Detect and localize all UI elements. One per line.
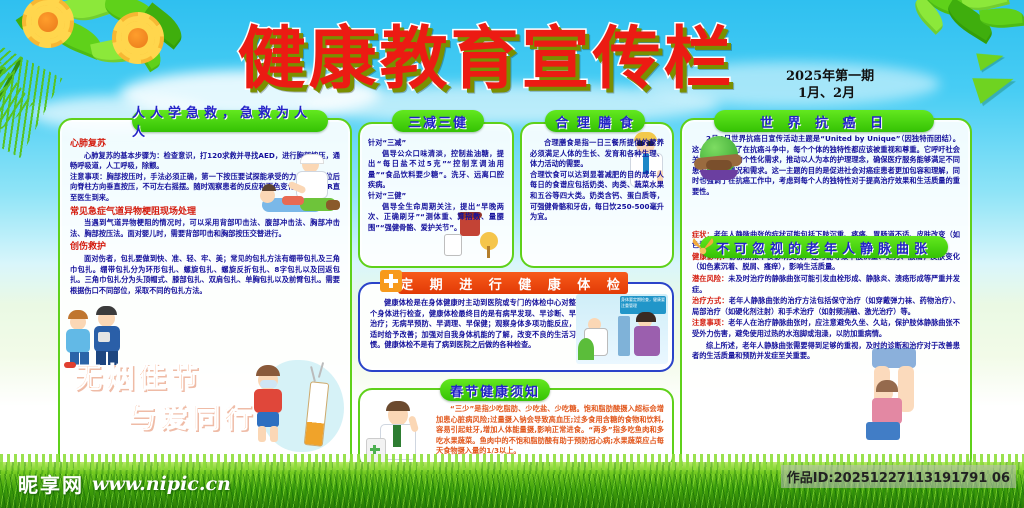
checkup-p0: 健康体检是在身体健康时主动到医院或专门的体检中心对整个身体进行检查，健康体检最终… [370, 298, 576, 351]
spring-p0: “三少”是指少吃脂肪、少吃盐、少吃糖。饱和脂肪酸摄入超标会增加患心脏病风险;过量… [436, 404, 664, 457]
page-title: 健康教育宣传栏 [196, 20, 776, 98]
site-url: www.nipic.cn [92, 473, 231, 495]
varicose-text: 老年人静脉曲张的治疗方法包括保守治疗（如穿戴弹力袜、药物治疗）、局部治疗（如硬化… [692, 296, 960, 316]
issue-line-1: 2025年第一期 [786, 69, 874, 84]
panel-balanced-diet: 合理膳食是指一日三餐所提供的营养必须满足人体的生长、发育和各种生理、体力活动的需… [520, 122, 674, 268]
three-reduce-p0: 针对“三减” [368, 138, 406, 147]
varicose-text: 老年人在治疗静脉曲张时，应注意避免久坐、久站，保护肢体静脉曲张不受外力伤害，避免… [692, 318, 960, 338]
heading-trauma: 创伤救护 [70, 242, 340, 253]
section-banner-checkup: 定 期 进 行 健 康 体 检 [398, 272, 628, 294]
no-smoking-child-illustration [248, 358, 344, 456]
three-reduce-p3: 倡导全生命周期关注，提出“早晚两次、正确刷牙”“测体重、算指数、量腰围”“强健骨… [368, 202, 504, 234]
section-banner-varicose: 不可忽视的老年人静脉曲张 [700, 236, 948, 258]
varicose-summary: 综上所述，老年人静脉曲张需要得到足够的重视，及时的诊断和治疗对于改善患者的生活质… [692, 341, 960, 362]
diet-p1: 合理饮食可以达到显著减肥的目的成年人每日的食谱应包括奶类、肉类、蔬菜水果和五谷等… [530, 170, 664, 221]
cpr-rescue-illustration [258, 154, 344, 230]
section-banner-three-reduce: 三减三健 [392, 110, 484, 132]
poster-header: 健康教育宣传栏 2025年第一期 1月、2月 [0, 16, 1024, 102]
section-banner-first-aid: 人人学急救，急救为人人 [132, 110, 328, 132]
issue-info: 2025年第一期 1月、2月 [786, 68, 936, 102]
heading-cpr: 心肺复苏 [70, 139, 340, 150]
health-checkup-illustration: 身体要定期检查，健康要注重管理 [576, 294, 668, 364]
three-reduce-p2: 针对“三健” [368, 191, 406, 200]
three-reduce-p1: 倡导公众口味清淡，控制盐油糖，提出“每日盐不过5克”“控制烹调油用量”“食品饮料… [368, 149, 504, 191]
balanced-diet-body: 合理膳食是指一日三餐所提供的营养必须满足人体的生长、发育和各种生理、体力活动的需… [530, 138, 664, 223]
three-reduce-body: 针对“三减” 倡导公众口味清淡，控制盐油糖，提出“每日盐不过5克”“控制烹调油用… [368, 138, 504, 233]
varicose-item: 注意事项：老年人在治疗静脉曲张时，应注意避免久坐、久站，保护肢体静脉曲张不受外力… [692, 318, 960, 339]
panel-first-aid: 心肺复苏 心肺复苏的基本步骤为：检查意识，打120求救并寻找AED，进行胸部按压… [58, 118, 352, 472]
spring-festival-body: “三少”是指少吃脂肪、少吃盐、少吃糖。饱和脂肪酸摄入超标会增加患心脏病风险;过量… [436, 404, 664, 457]
diet-p0: 合理膳食是指一日三餐所提供的营养必须满足人体的生长、发育和各种生理、体力活动的需… [530, 138, 664, 170]
image-id-watermark: 作品ID:20251227113191791 06 [781, 465, 1016, 488]
image-id-text: 作品ID:20251227113191791 06 [787, 471, 1010, 486]
checkup-body: 健康体检是在身体健康时主动到医院或专门的体检中心对整个身体进行检查，健康体检最终… [370, 298, 576, 351]
globe-handshake-icon [692, 136, 744, 184]
health-education-poster: 健康教育宣传栏 2025年第一期 1月、2月 人人学急救，急救为人人 心肺复苏 … [0, 0, 1024, 508]
site-watermark: 昵享网 www.nipic.cn [18, 469, 231, 498]
panel-checkup: 健康体检是在身体健康时主动到医院或专门的体检中心对整个身体进行检查，健康体检最终… [358, 282, 674, 372]
trauma-para-1: 面对伤者，包扎要做到快、准、轻、牢、美；常见的包扎方法有绷带包扎及三角巾包扎。绷… [70, 254, 340, 296]
varicose-item: 潜在风险：未及时治疗的静脉曲张可能引发血栓形成、静脉炎、溃疡形成等严重并发症。 [692, 274, 960, 295]
varicose-label: 治疗方式： [692, 296, 729, 305]
slogan-line-2: 与爱同行 [128, 396, 256, 436]
panel-three-reduce: 针对“三减” 倡导公众口味清淡，控制盐油糖，提出“每日盐不过5克”“控制烹调油用… [358, 122, 514, 268]
slogan-line-1: 无烟佳节 [74, 356, 202, 396]
section-banner-cancer-day: 世 界 抗 癌 日 [714, 110, 934, 132]
section-banner-spring-festival: 春节健康须知 [440, 379, 550, 401]
varicose-label: 注意事项： [692, 318, 728, 327]
section-banner-balanced-diet: 合 理 膳 食 [545, 110, 645, 132]
medical-cross-icon [380, 270, 402, 292]
ribbon-icon [690, 234, 716, 260]
panel-right-column: 2月4日世界抗癌日宣传活动主题是“United by Unique”（因独特而团… [680, 118, 972, 472]
site-name: 昵享网 [18, 469, 84, 498]
issue-line-2: 1月、2月 [786, 85, 936, 102]
varicose-label: 潜在风险： [692, 274, 728, 283]
varicose-text: 未及时治疗的静脉曲张可能引发血栓形成、静脉炎、溃疡形成等严重并发症。 [692, 274, 960, 294]
varicose-item: 治疗方式：老年人静脉曲张的治疗方法包括保守治疗（如穿戴弹力袜、药物治疗）、局部治… [692, 296, 960, 317]
